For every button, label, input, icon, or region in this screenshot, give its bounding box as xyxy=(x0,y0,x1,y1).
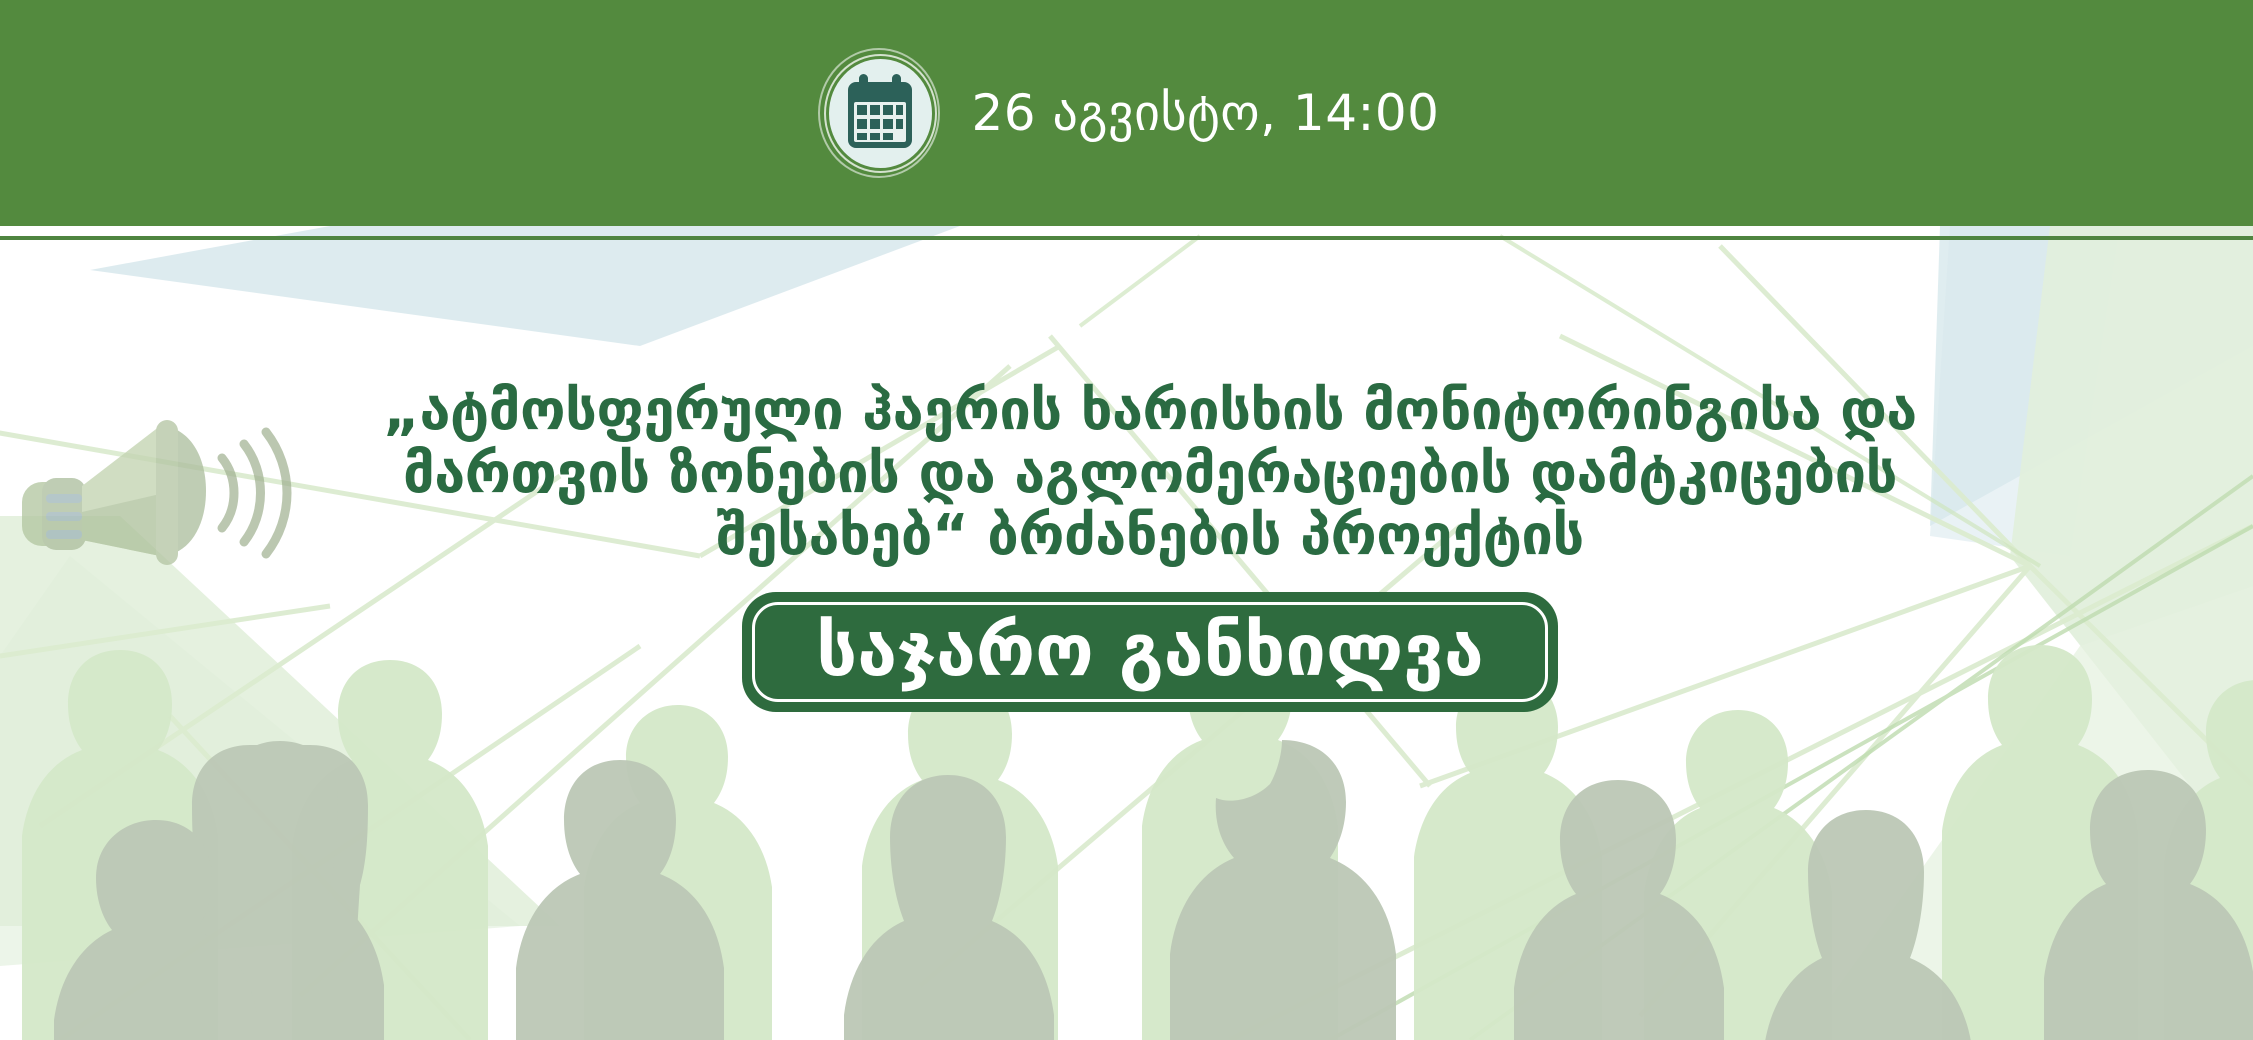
title-line-2: მართვის ზონების და აგლომერაციების დამტკი… xyxy=(340,443,1960,506)
header-content: 26 აგვისტო, 14:00 xyxy=(0,0,2253,226)
page-title: „ატმოსფერული ჰაერის ხარისხის მონიტორინგი… xyxy=(340,380,1960,568)
title-line-1: „ატმოსფერული ჰაერის ხარისხის მონიტორინგი… xyxy=(340,380,1960,443)
public-discussion-button[interactable]: საჯარო განხილვა xyxy=(742,592,1557,712)
header-separator-line xyxy=(0,236,2253,240)
calendar-icon xyxy=(814,48,944,178)
title-line-3: შესახებ“ ბრძანების პროექტის xyxy=(340,505,1960,568)
event-date-time: 26 აგვისტო, 14:00 xyxy=(972,88,1440,138)
header-band: 26 აგვისტო, 14:00 xyxy=(0,0,2253,226)
megaphone-icon xyxy=(10,390,310,605)
event-announcement-banner: 26 აგვისტო, 14:00 „ატმოსფერული ჰაერის ხა… xyxy=(0,0,2253,1040)
cta-container: საჯარო განხილვა xyxy=(300,592,2000,712)
main-content: „ატმოსფერული ჰაერის ხარისხის მონიტორინგი… xyxy=(300,380,2000,712)
